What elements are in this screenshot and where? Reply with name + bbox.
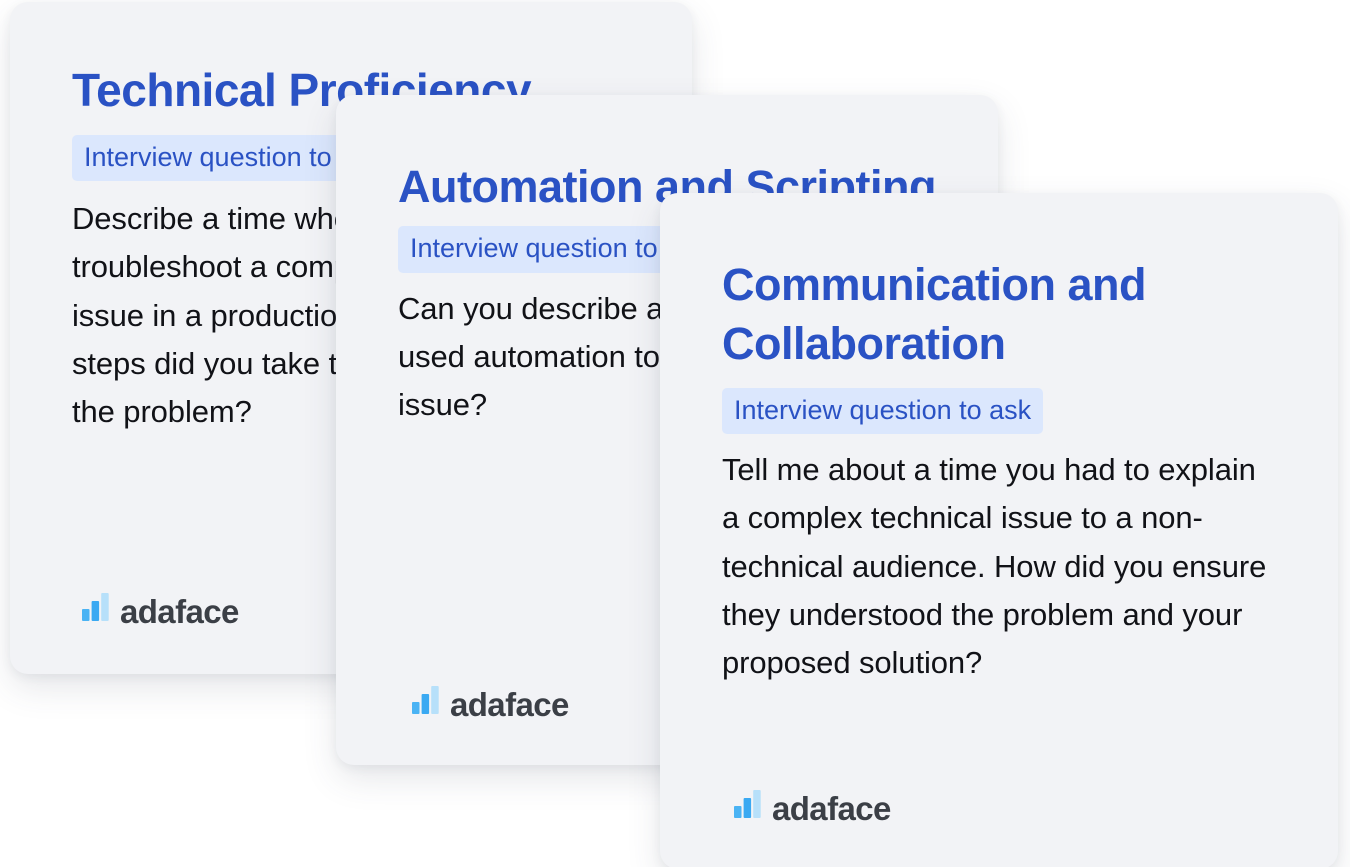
card-question-text: Tell me about a time you had to explain … [722,446,1278,688]
bar-chart-icon [412,686,439,719]
card-content: Communication and Collaboration Intervie… [660,193,1338,867]
bar-chart-icon [734,790,761,823]
interview-question-card-communication-and-collaboration[interactable]: Communication and Collaboration Intervie… [660,193,1338,867]
adaface-wordmark: adaface [450,688,569,721]
adaface-wordmark: adaface [772,792,891,825]
status-badge: Interview question to ask [722,388,1043,434]
badge-row: Interview question to ask [722,388,1278,434]
card-stack: Technical Proficiency Interview question… [0,0,1350,867]
adaface-wordmark: adaface [120,595,239,628]
card-title: Communication and Collaboration [722,255,1278,374]
adaface-logo: adaface [734,790,1278,823]
bar-chart-icon [82,593,109,626]
